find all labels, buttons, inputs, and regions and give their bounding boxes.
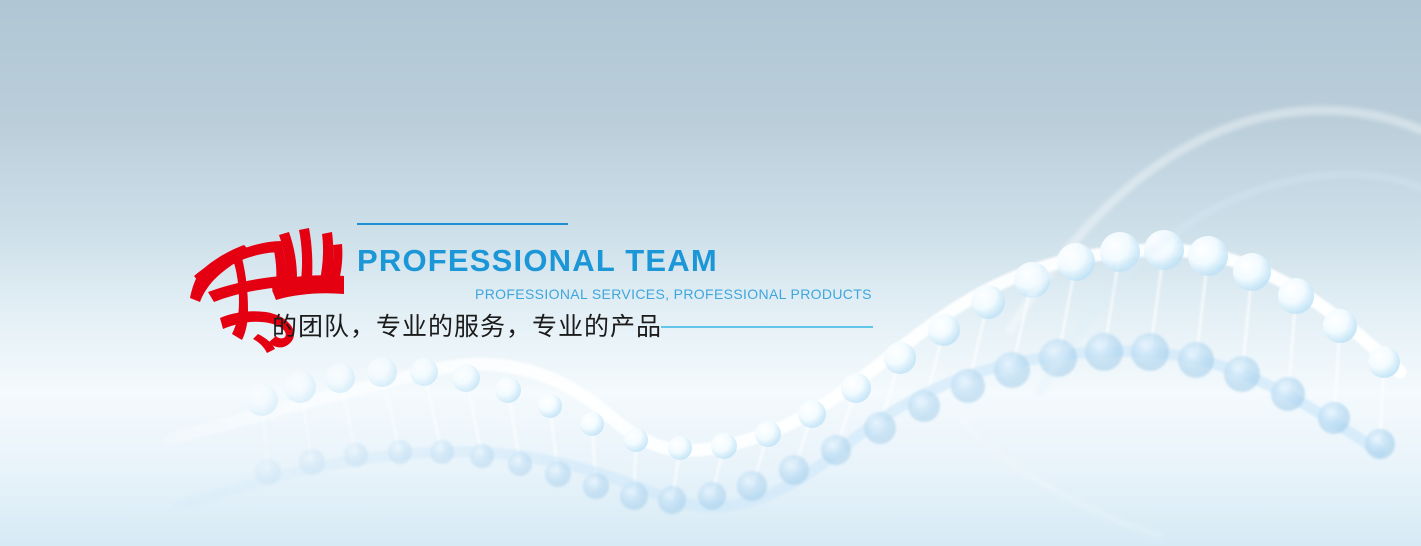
decorative-rule-top [357, 223, 568, 225]
page-subtitle: PROFESSIONAL SERVICES, PROFESSIONAL PROD… [475, 286, 872, 302]
decorative-rule-bottom [661, 326, 873, 328]
page-title: PROFESSIONAL TEAM [357, 243, 718, 279]
tagline-chinese: 的团队，专业的服务，专业的产品 [272, 307, 662, 343]
hero-banner: PROFESSIONAL TEAM PROFESSIONAL SERVICES,… [0, 0, 1421, 546]
